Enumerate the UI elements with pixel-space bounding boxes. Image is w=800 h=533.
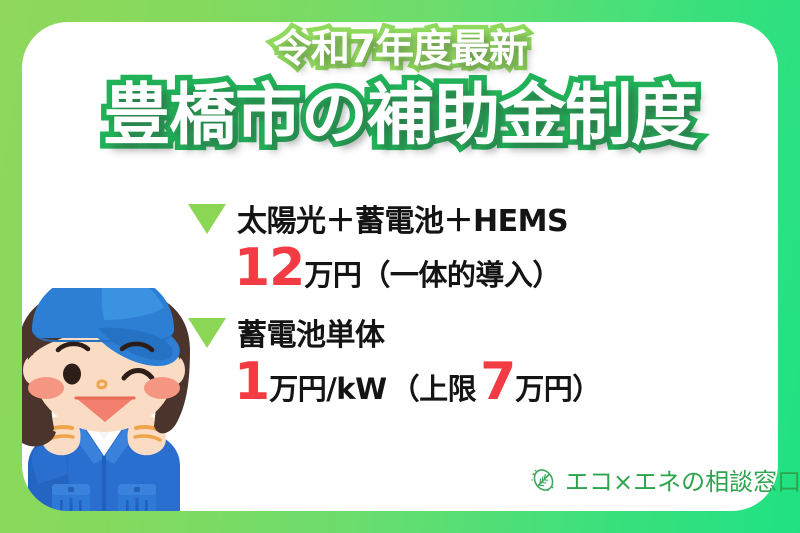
- uniform-zipper: [102, 456, 106, 533]
- brand-logo-text: エコ×エネの相談窓口: [565, 462, 800, 497]
- cheek-right: [144, 377, 180, 399]
- female-staff-illustration: [0, 288, 208, 533]
- leaf-icon: [528, 465, 558, 495]
- benefits-list: 太陽光＋蓄電池＋HEMS 12 万円 （一体的導入） 蓄電池単体 1 万円/kW…: [188, 196, 618, 424]
- benefit-label: 太陽光＋蓄電池＋HEMS: [237, 196, 568, 240]
- benefit-amount-unit: 万円/kW: [269, 366, 386, 408]
- benefit-note-prefix: （上限: [391, 366, 477, 408]
- benefit-note-suffix: 万円）: [515, 366, 601, 408]
- benefit-amount: 1 万円/kW （上限 7 万円）: [234, 356, 618, 408]
- benefit-amount-number: 12: [234, 242, 304, 294]
- benefit-heading: 蓄電池単体: [188, 310, 618, 354]
- benefit-heading: 太陽光＋蓄電池＋HEMS: [188, 196, 618, 240]
- benefit-item: 太陽光＋蓄電池＋HEMS 12 万円 （一体的導入）: [188, 196, 618, 294]
- triangle-down-icon: [188, 204, 226, 234]
- benefit-amount: 12 万円 （一体的導入）: [234, 242, 618, 294]
- uniform-pocket-right: [118, 484, 156, 528]
- poster-canvas: 令和7年度最新 豊橋市の補助金制度 太陽光＋蓄電池＋HEMS 12 万円 （一体…: [0, 0, 800, 533]
- benefit-label: 蓄電池単体: [237, 310, 385, 354]
- benefit-note: （一体的導入）: [361, 252, 561, 294]
- benefit-item: 蓄電池単体 1 万円/kW （上限 7 万円）: [188, 310, 618, 408]
- benefit-amount-number: 1: [234, 356, 269, 408]
- eye-left: [63, 364, 81, 385]
- cheek-left: [28, 377, 64, 399]
- benefit-amount-unit: 万円: [304, 252, 361, 294]
- brand-logo[interactable]: エコ×エネの相談窓口: [528, 462, 800, 497]
- benefit-note-number: 7: [480, 356, 515, 408]
- uniform-pocket-left: [52, 484, 90, 528]
